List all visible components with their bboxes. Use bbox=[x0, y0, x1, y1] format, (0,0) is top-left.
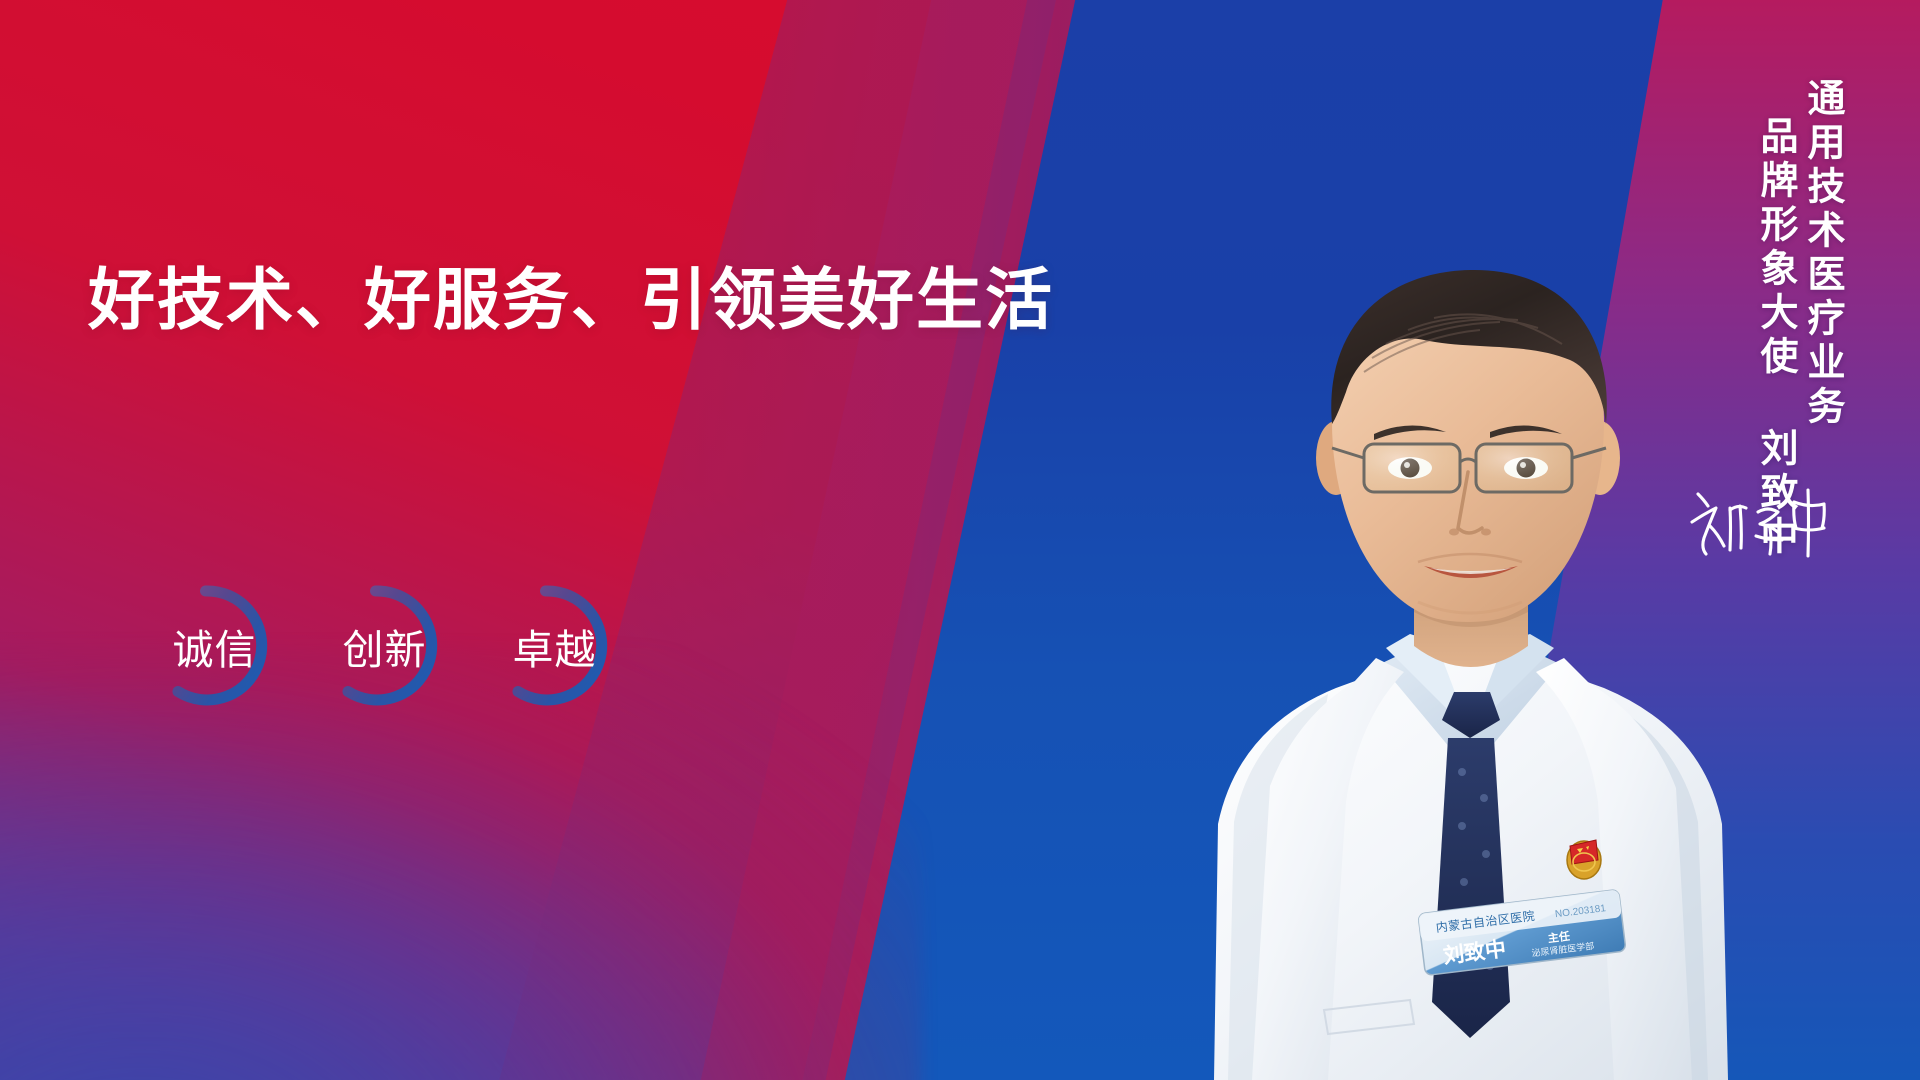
main-slogan: 好技术、好服务、引领美好生活 bbox=[88, 264, 1054, 338]
value-badge-label: 卓越 bbox=[513, 616, 597, 676]
party-emblem-icon bbox=[1567, 840, 1601, 879]
portrait-photo: 内蒙古自治区医院 NO.203181 刘致中 主任 泌尿肾脏医学部 bbox=[1118, 172, 1818, 1080]
value-badge-label: 创新 bbox=[343, 616, 427, 676]
value-badge-integrity[interactable]: 诚信 bbox=[140, 580, 271, 711]
value-badge-excellence[interactable]: 卓越 bbox=[480, 580, 611, 711]
background-lower-left-bloom bbox=[0, 648, 922, 1080]
business-line-text: 通用技术医疗业务 bbox=[1801, 78, 1842, 430]
nostril-left bbox=[1449, 529, 1459, 536]
value-badge-label: 诚信 bbox=[173, 616, 257, 676]
nostril-right bbox=[1481, 529, 1491, 536]
signature-icon bbox=[1684, 478, 1834, 564]
poster-canvas: 好技术、好服务、引领美好生活 诚信 bbox=[0, 0, 1920, 1080]
core-values-group: 诚信 创新 bbox=[140, 580, 611, 711]
value-badge-innovation[interactable]: 创新 bbox=[310, 580, 441, 711]
